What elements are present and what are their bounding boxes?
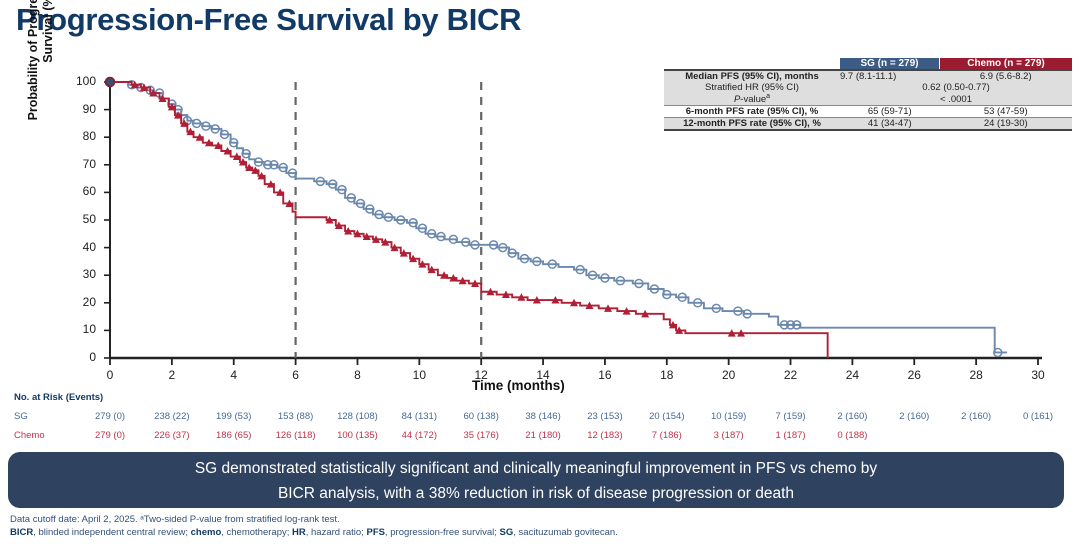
risk-cell-chemo-m20: 3 (187) [701, 430, 757, 441]
y-tick-label: 60 [66, 184, 96, 198]
x-tick-label: 8 [345, 368, 369, 382]
risk-cell-sg-m24: 2 (160) [824, 411, 880, 422]
x-tick-label: 14 [531, 368, 555, 382]
risk-cell-chemo-m2: 226 (37) [144, 430, 200, 441]
conclusion-banner: SG demonstrated statistically significan… [8, 452, 1064, 508]
y-tick-label: 40 [66, 240, 96, 254]
risk-cell-chemo-m14: 21 (180) [515, 430, 571, 441]
risk-table-title: No. at Risk (Events) [14, 392, 103, 403]
footnote-text: , hazard ratio; [306, 527, 367, 538]
risk-cell-sg-m22: 7 (159) [763, 411, 819, 422]
risk-cell-chemo-m10: 44 (172) [391, 430, 447, 441]
risk-cell-sg-m8: 128 (108) [329, 411, 385, 422]
risk-cell-sg-m6: 153 (88) [268, 411, 324, 422]
banner-line-1: SG demonstrated statistically significan… [8, 456, 1064, 481]
footnote-abbrev: SG [500, 527, 514, 538]
y-tick-label: 30 [66, 267, 96, 281]
x-tick-label: 10 [407, 368, 431, 382]
risk-cell-sg-m14: 38 (146) [515, 411, 571, 422]
footnote-abbrev: chemo [191, 527, 222, 538]
risk-cell-chemo-m18: 7 (186) [639, 430, 695, 441]
risk-row-label-chemo: Chemo [14, 430, 45, 441]
footnote-text: , blinded independent central review; [33, 527, 190, 538]
risk-cell-chemo-m6: 126 (118) [268, 430, 324, 441]
x-tick-label: 18 [655, 368, 679, 382]
risk-cell-sg-m20: 10 (159) [701, 411, 757, 422]
x-tick-label: 22 [779, 368, 803, 382]
km-curve-sg [110, 82, 1007, 352]
risk-cell-sg-m18: 20 (154) [639, 411, 695, 422]
risk-cell-sg-m4: 199 (53) [206, 411, 262, 422]
footnote-line-1: Data cutoff date: April 2, 2025. ᵃTwo-si… [10, 514, 910, 527]
risk-cell-chemo-m8: 100 (135) [329, 430, 385, 441]
x-tick-label: 20 [717, 368, 741, 382]
x-tick-label: 16 [593, 368, 617, 382]
y-tick-label: 20 [66, 295, 96, 309]
x-tick-label: 2 [160, 368, 184, 382]
km-svg [0, 56, 1080, 386]
risk-cell-chemo-m12: 35 (176) [453, 430, 509, 441]
x-tick-label: 24 [840, 368, 864, 382]
origin-marker [106, 78, 115, 87]
footnote-abbrev: BICR [10, 527, 33, 538]
y-tick-label: 70 [66, 157, 96, 171]
risk-cell-sg-m26: 2 (160) [886, 411, 942, 422]
risk-cell-sg-m16: 23 (153) [577, 411, 633, 422]
x-tick-label: 12 [469, 368, 493, 382]
x-tick-label: 4 [222, 368, 246, 382]
x-tick-label: 28 [964, 368, 988, 382]
y-tick-label: 100 [66, 74, 96, 88]
y-tick-label: 50 [66, 212, 96, 226]
risk-cell-chemo-m22: 1 (187) [763, 430, 819, 441]
x-tick-label: 0 [98, 368, 122, 382]
footnote-line-2: BICR, blinded independent central review… [10, 527, 910, 540]
x-tick-label: 6 [284, 368, 308, 382]
page-title: Progression-Free Survival by BICR [16, 2, 521, 38]
risk-cell-chemo-m16: 12 (183) [577, 430, 633, 441]
risk-cell-sg-m28: 2 (160) [948, 411, 1004, 422]
risk-cell-sg-m30: 0 (161) [1010, 411, 1066, 422]
risk-cell-chemo-m24: 0 (188) [824, 430, 880, 441]
risk-cell-sg-m10: 84 (131) [391, 411, 447, 422]
x-tick-label: 26 [902, 368, 926, 382]
footnote-text: , chemotherapy; [221, 527, 292, 538]
y-tick-label: 90 [66, 102, 96, 116]
risk-cell-sg-m2: 238 (22) [144, 411, 200, 422]
footnotes: Data cutoff date: April 2, 2025. ᵃTwo-si… [10, 514, 910, 539]
banner-line-2: BICR analysis, with a 38% reduction in r… [8, 481, 1064, 506]
risk-cell-chemo-m4: 186 (65) [206, 430, 262, 441]
y-tick-label: 0 [66, 350, 96, 364]
km-curve-chemo [110, 82, 828, 358]
risk-cell-sg-m0: 279 (0) [82, 411, 138, 422]
y-tick-label: 80 [66, 129, 96, 143]
footnote-text: , sacituzumab govitecan. [513, 527, 618, 538]
km-plot [0, 56, 1080, 386]
risk-row-label-sg: SG [14, 411, 28, 422]
footnote-abbrev: HR [292, 527, 306, 538]
footnote-abbrev: PFS [366, 527, 384, 538]
risk-cell-chemo-m0: 279 (0) [82, 430, 138, 441]
x-tick-label: 30 [1026, 368, 1050, 382]
risk-cell-sg-m12: 60 (138) [453, 411, 509, 422]
y-tick-label: 10 [66, 322, 96, 336]
footnote-text: , progression-free survival; [385, 527, 500, 538]
